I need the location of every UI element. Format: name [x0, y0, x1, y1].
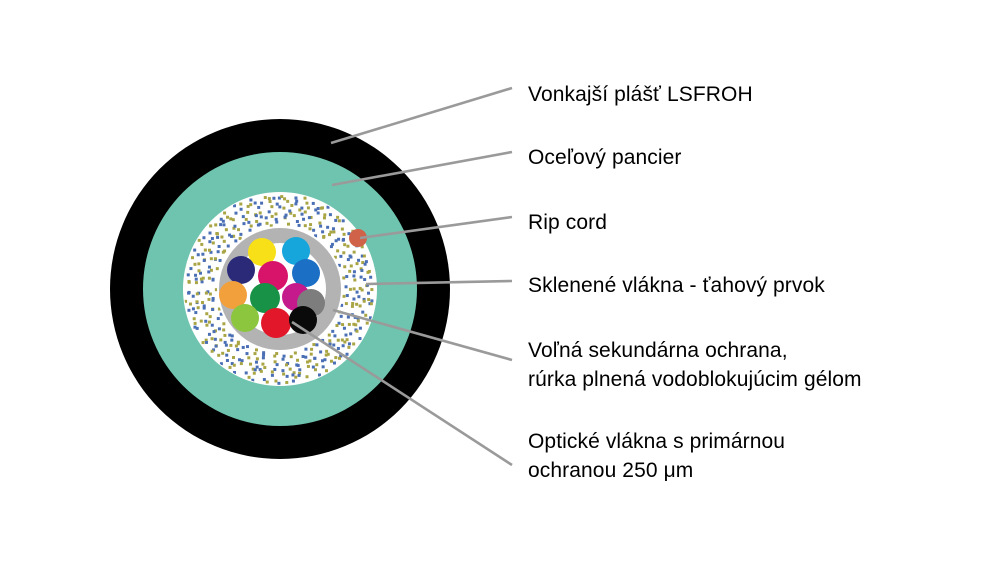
speckle-dot: [347, 346, 350, 349]
diagram-canvas: Vonkajší plášť LSFROHOceľový pancierRip …: [0, 0, 1000, 572]
cable-cross-section-figure: [0, 0, 1000, 572]
speckle-dot: [282, 373, 285, 376]
speckle-dot: [278, 205, 281, 208]
speckle-dot: [285, 214, 288, 217]
speckle-dot: [184, 300, 187, 303]
speckle-dot: [338, 219, 341, 222]
speckle-dot: [234, 212, 237, 215]
speckle-dot: [208, 333, 211, 336]
speckle-dot: [220, 236, 223, 239]
speckle-dot: [276, 203, 279, 206]
speckle-dot: [361, 311, 364, 314]
speckle-dot: [228, 334, 231, 337]
speckle-dot: [220, 313, 223, 316]
speckle-dot: [350, 264, 353, 267]
speckle-dot: [254, 202, 257, 205]
speckle-dot: [215, 288, 218, 291]
speckle-dot: [195, 278, 198, 281]
speckle-dot: [286, 200, 289, 203]
speckle-dot: [229, 344, 232, 347]
speckle-dot: [325, 369, 328, 372]
speckle-dot: [353, 279, 356, 282]
speckle-dot: [288, 210, 291, 213]
speckle-dot: [290, 355, 293, 358]
speckle-dot: [342, 276, 345, 279]
speckle-dot: [317, 212, 320, 215]
speckle-dot: [277, 382, 280, 385]
speckle-dot: [222, 223, 225, 226]
speckle-dot: [294, 202, 297, 205]
speckle-dot: [219, 338, 222, 341]
speckle-dot: [360, 269, 363, 272]
speckle-dot: [269, 200, 272, 203]
speckle-dot: [294, 351, 297, 354]
speckle-dot: [195, 281, 198, 284]
speckle-dot: [213, 330, 216, 333]
speckle-dot: [255, 348, 258, 351]
speckle-dot: [209, 224, 212, 227]
speckle-dot: [336, 216, 339, 219]
speckle-dot: [323, 216, 326, 219]
speckle-dot: [211, 337, 214, 340]
speckle-dot: [251, 379, 254, 382]
speckle-dot: [193, 317, 196, 320]
speckle-dot: [268, 197, 271, 200]
speckle-dot: [227, 349, 230, 352]
speckle-dot: [261, 363, 264, 366]
speckle-dot: [328, 339, 331, 342]
speckle-dot: [225, 228, 228, 231]
speckle-dot: [337, 347, 340, 350]
speckle-dot: [242, 222, 245, 225]
speckle-dot: [335, 324, 338, 327]
speckle-dot: [343, 243, 346, 246]
speckle-dot: [197, 253, 200, 256]
speckle-dot: [257, 206, 260, 209]
speckle-dot: [192, 295, 195, 298]
speckle-dot: [249, 198, 252, 201]
speckle-dot: [271, 215, 274, 218]
speckle-dot: [364, 314, 367, 317]
speckle-dot: [296, 220, 299, 223]
speckle-dot: [195, 300, 198, 303]
speckle-dot: [215, 345, 218, 348]
speckle-dot: [253, 372, 256, 375]
speckle-dot: [268, 210, 271, 213]
speckle-dot: [218, 245, 221, 248]
speckle-dot: [263, 366, 266, 369]
speckle-dot: [266, 222, 269, 225]
speckle-dot: [353, 270, 356, 273]
speckle-dot: [200, 243, 203, 246]
speckle-dot: [187, 280, 190, 283]
speckle-dot: [196, 292, 199, 295]
speckle-dot: [211, 324, 214, 327]
speckle-dot: [270, 205, 273, 208]
speckle-dot: [215, 232, 218, 235]
speckle-dot: [354, 323, 357, 326]
speckle-dot: [321, 230, 324, 233]
speckle-dot: [312, 343, 315, 346]
speckle-dot: [346, 294, 349, 297]
speckle-dot: [280, 195, 283, 198]
speckle-dot: [237, 228, 240, 231]
speckle-dot: [370, 288, 373, 291]
speckle-dot: [332, 230, 335, 233]
speckle-dot: [305, 202, 308, 205]
speckle-dot: [226, 359, 229, 362]
speckle-dot: [365, 260, 368, 263]
speckle-dot: [232, 356, 235, 359]
speckle-dot: [356, 291, 359, 294]
speckle-dot: [205, 312, 208, 315]
speckle-dot: [194, 274, 197, 277]
speckle-dot: [250, 224, 253, 227]
speckle-dot: [259, 211, 262, 214]
speckle-dot: [265, 216, 268, 219]
speckle-dot: [209, 232, 212, 235]
speckle-dot: [253, 352, 256, 355]
speckle-dot: [353, 287, 356, 290]
speckle-dot: [367, 292, 370, 295]
speckle-dot: [281, 369, 284, 372]
speckle-dot: [287, 223, 290, 226]
speckle-dot: [274, 212, 277, 215]
speckle-dot: [282, 207, 285, 210]
speckle-dot: [304, 356, 307, 359]
speckle-dot: [282, 358, 285, 361]
speckle-dot: [315, 363, 318, 366]
speckle-dot: [245, 371, 248, 374]
speckle-dot: [262, 356, 265, 359]
speckle-dot: [286, 375, 289, 378]
speckle-dot: [226, 216, 229, 219]
speckle-dot: [363, 278, 366, 281]
speckle-dot: [272, 197, 275, 200]
speckle-dot: [275, 221, 278, 224]
speckle-dot: [209, 315, 212, 318]
speckle-dot: [336, 249, 339, 252]
speckle-dot: [304, 224, 307, 227]
speckle-dot: [359, 327, 362, 330]
speckle-dot: [357, 259, 360, 262]
speckle-dot: [304, 348, 307, 351]
speckle-dot: [249, 229, 252, 232]
speckle-dot: [211, 279, 214, 282]
speckle-dot: [197, 269, 200, 272]
speckle-dot: [292, 380, 295, 383]
speckle-dot: [276, 363, 279, 366]
label-glass-yarn: Sklenené vlákna - ťahový prvok: [528, 271, 825, 300]
speckle-dot: [216, 236, 219, 239]
speckle-dot: [203, 307, 206, 310]
speckle-dot: [370, 302, 373, 305]
speckle-dot: [242, 346, 245, 349]
fiber-dark-blue: [227, 256, 255, 284]
speckle-dot: [223, 334, 226, 337]
speckle-dot: [249, 363, 252, 366]
speckle-dot: [328, 334, 331, 337]
speckle-dot: [301, 213, 304, 216]
speckle-dot: [283, 355, 286, 358]
speckle-dot: [217, 317, 220, 320]
speckle-dot: [369, 276, 372, 279]
speckle-dot: [348, 323, 351, 326]
speckle-dot: [285, 381, 288, 384]
speckle-dot: [340, 304, 343, 307]
speckle-dot: [274, 360, 277, 363]
speckle-dot: [248, 376, 251, 379]
speckle-dot: [255, 220, 258, 223]
speckle-dot: [331, 330, 334, 333]
speckle-dot: [342, 238, 345, 241]
speckle-dot: [355, 330, 358, 333]
speckle-dot: [308, 216, 311, 219]
speckle-dot: [312, 229, 315, 232]
speckle-dot: [298, 368, 301, 371]
speckle-dot: [290, 204, 293, 207]
speckle-dot: [245, 352, 248, 355]
speckle-dot: [342, 219, 345, 222]
speckle-dot: [198, 239, 201, 242]
speckle-dot: [260, 370, 263, 373]
speckle-dot: [225, 354, 228, 357]
speckle-dot: [202, 341, 205, 344]
speckle-dot: [187, 309, 190, 312]
speckle-dot: [346, 245, 349, 248]
speckle-dot: [229, 217, 232, 220]
speckle-dot: [332, 343, 335, 346]
label-outer-jacket: Vonkajší plášť LSFROH: [528, 80, 753, 109]
speckle-dot: [220, 362, 223, 365]
speckle-dot: [306, 375, 309, 378]
speckle-dot: [352, 342, 355, 345]
speckle-dot: [325, 350, 328, 353]
fiber-red: [261, 308, 291, 338]
speckle-dot: [357, 319, 360, 322]
speckle-dot: [349, 256, 352, 259]
speckle-dot: [342, 295, 345, 298]
speckle-dot: [246, 345, 249, 348]
speckle-dot: [271, 374, 274, 377]
speckle-dot: [322, 365, 325, 368]
speckle-dot: [366, 322, 369, 325]
speckle-dot: [293, 214, 296, 217]
speckle-dot: [210, 257, 213, 260]
speckle-dot: [340, 315, 343, 318]
speckle-dot: [200, 278, 203, 281]
speckle-dot: [233, 371, 236, 374]
speckle-dot: [197, 306, 200, 309]
speckle-dot: [193, 263, 196, 266]
speckle-dot: [351, 305, 354, 308]
speckle-dot: [247, 221, 250, 224]
speckle-dot: [314, 234, 317, 237]
speckle-dot: [242, 215, 245, 218]
speckle-dot: [359, 304, 362, 307]
speckle-dot: [223, 211, 226, 214]
speckle-dot: [192, 307, 195, 310]
speckle-dot: [357, 295, 360, 298]
leader-outer-jacket: [331, 88, 512, 143]
speckle-dot: [260, 202, 263, 205]
speckle-dot: [207, 298, 210, 301]
speckle-dot: [207, 270, 210, 273]
speckle-dot: [270, 224, 273, 227]
speckle-dot: [203, 259, 206, 262]
speckle-dot: [304, 197, 307, 200]
speckle-dot: [337, 339, 340, 342]
speckle-dot: [222, 328, 225, 331]
speckle-dot: [205, 292, 208, 295]
speckle-dot: [337, 238, 340, 241]
speckle-dot: [211, 237, 214, 240]
speckle-dot: [255, 214, 258, 217]
speckle-dot: [356, 262, 359, 265]
speckle-dot: [339, 255, 342, 258]
speckle-dot: [326, 226, 329, 229]
speckle-dot: [327, 353, 330, 356]
speckle-dot: [187, 273, 190, 276]
speckle-dot: [349, 288, 352, 291]
speckle-dot: [218, 307, 221, 310]
speckle-dot: [351, 302, 354, 305]
speckle-dot: [241, 359, 244, 362]
speckle-dot: [189, 303, 192, 306]
speckle-dot: [260, 215, 263, 218]
speckle-dot: [338, 264, 341, 267]
speckle-dot: [221, 352, 224, 355]
speckle-dot: [342, 251, 345, 254]
speckle-dot: [205, 324, 208, 327]
speckle-dot: [201, 280, 204, 283]
speckle-dot: [227, 245, 230, 248]
speckle-dot: [222, 322, 225, 325]
speckle-dot: [361, 289, 364, 292]
speckle-dot: [302, 355, 305, 358]
speckle-dot: [310, 353, 313, 356]
speckle-dot: [194, 311, 197, 314]
speckle-dot: [343, 233, 346, 236]
speckle-dot: [217, 354, 220, 357]
speckle-dot: [294, 376, 297, 379]
speckle-dot: [296, 359, 299, 362]
speckle-dot: [217, 250, 220, 253]
speckle-dot: [309, 223, 312, 226]
label-steel-armour: Oceľový pancier: [528, 143, 682, 172]
speckle-dot: [368, 270, 371, 273]
speckle-dot: [208, 249, 211, 252]
speckle-dot: [233, 364, 236, 367]
speckle-dot: [234, 239, 237, 242]
speckle-dot: [223, 240, 226, 243]
speckle-dot: [308, 359, 311, 362]
speckle-dot: [211, 299, 214, 302]
speckle-dot: [257, 224, 260, 227]
speckle-dot: [347, 316, 350, 319]
label-optical-fiber: Optické vlákna s primárnou ochranou 250 …: [528, 427, 785, 485]
speckle-dot: [222, 251, 225, 254]
speckle-dot: [334, 356, 337, 359]
speckle-dot: [318, 373, 321, 376]
speckle-dot: [246, 211, 249, 214]
speckle-dot: [363, 300, 366, 303]
speckle-dot: [205, 341, 208, 344]
speckle-dot: [209, 293, 212, 296]
speckle-dot: [329, 213, 332, 216]
speckle-dot: [224, 341, 227, 344]
label-loose-tube: Voľná sekundárna ochrana, rúrka plnená v…: [528, 336, 862, 394]
speckle-dot: [342, 344, 345, 347]
speckle-dot: [302, 218, 305, 221]
speckle-dot: [312, 366, 315, 369]
speckle-dot: [204, 320, 207, 323]
speckle-dot: [228, 234, 231, 237]
speckle-dot: [218, 327, 221, 330]
speckle-dot: [310, 348, 313, 351]
speckle-dot: [273, 355, 276, 358]
speckle-dot: [341, 323, 344, 326]
speckle-dot: [349, 332, 352, 335]
speckle-dot: [345, 275, 348, 278]
speckle-dot: [348, 342, 351, 345]
speckle-dot: [367, 298, 370, 301]
speckle-dot: [193, 326, 196, 329]
speckle-dot: [348, 270, 351, 273]
speckle-dot: [235, 344, 238, 347]
speckle-dot: [347, 258, 350, 261]
speckle-dot: [197, 262, 200, 265]
speckle-dot: [230, 339, 233, 342]
speckle-dot: [201, 301, 204, 304]
speckle-dot: [304, 210, 307, 213]
speckle-dot: [245, 218, 248, 221]
speckle-dot: [291, 373, 294, 376]
speckle-dot: [240, 362, 243, 365]
speckle-dot: [208, 266, 211, 269]
speckle-dot: [295, 363, 298, 366]
speckle-dot: [298, 374, 301, 377]
speckle-dot: [211, 350, 214, 353]
speckle-dot: [225, 344, 228, 347]
speckle-dot: [214, 223, 217, 226]
speckle-dot: [318, 222, 321, 225]
speckle-dot: [189, 267, 192, 270]
speckle-dot: [345, 285, 348, 288]
fiber-lime: [231, 304, 259, 332]
speckle-dot: [330, 360, 333, 363]
speckle-dot: [346, 353, 349, 356]
speckle-dot: [314, 368, 317, 371]
speckle-dot: [313, 357, 316, 360]
speckle-dot: [264, 196, 267, 199]
speckle-dot: [326, 206, 329, 209]
speckle-dot: [323, 358, 326, 361]
speckle-dot: [319, 350, 322, 353]
speckle-dot: [263, 378, 266, 381]
speckle-dot: [211, 308, 214, 311]
speckle-dot: [307, 206, 310, 209]
speckle-dot: [334, 256, 337, 259]
speckle-dot: [256, 366, 259, 369]
speckle-dot: [255, 361, 258, 364]
speckle-dot: [358, 337, 361, 340]
speckle-dot: [319, 225, 322, 228]
speckle-dot: [204, 249, 207, 252]
speckle-dot: [329, 231, 332, 234]
speckle-dot: [285, 363, 288, 366]
speckle-dot: [283, 197, 286, 200]
